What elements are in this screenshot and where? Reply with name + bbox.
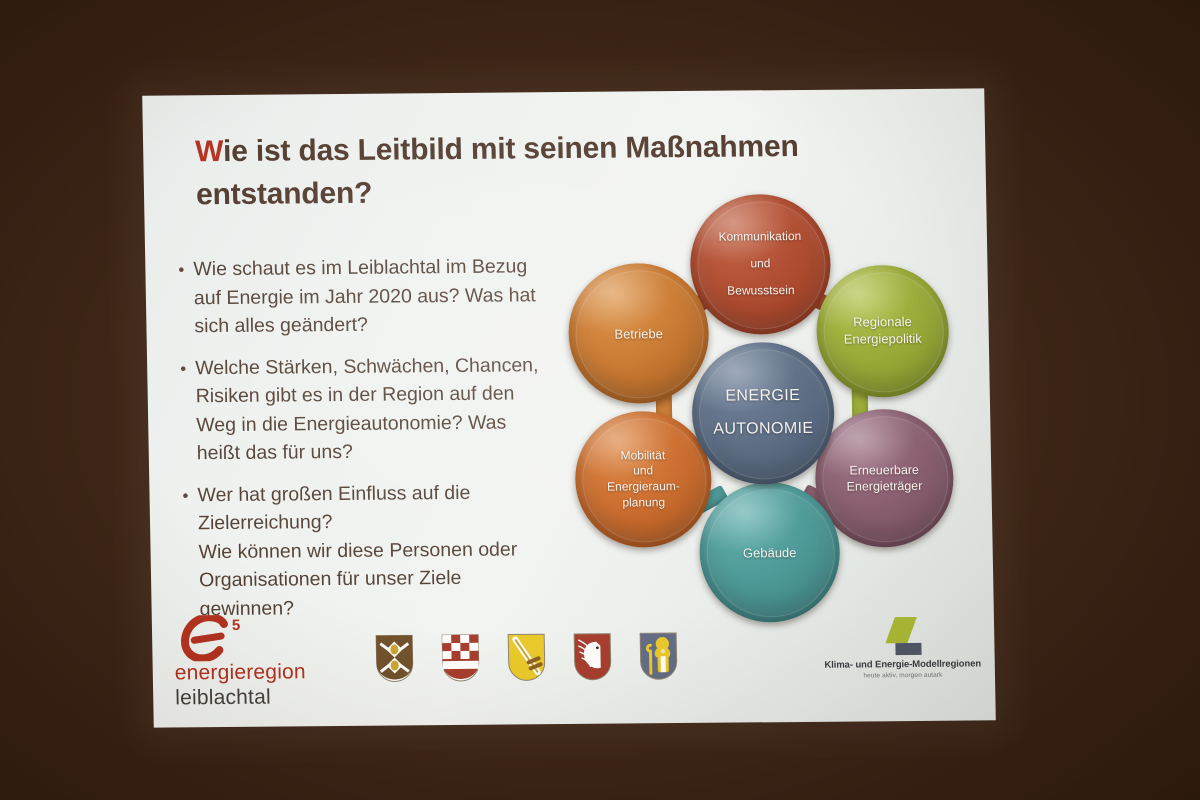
bullet-marker-icon: • [171,354,197,468]
node-betriebe[interactable]: Betriebe [567,263,710,404]
node-energie-autonomie-center[interactable]: ENERGIE AUTONOMIE [691,342,836,485]
kem-mark-icon [812,614,993,660]
list-item: • Wer hat großen Einfluss auf die Zieler… [173,477,596,623]
crest-icon-2 [440,633,481,683]
bullet-marker-icon: • [173,481,200,624]
e5-logo-line2: leiblachtal [175,685,365,711]
kem-shape-icon [867,615,938,660]
projected-slide-wrapper: Wie ist das Leitbild mit seinen Maßnahme… [142,88,996,727]
bullet-text: Welche Stärken, Schwächen, Chancen, Risi… [195,350,593,467]
e5-logo-line1: energieregion [175,660,365,686]
kem-logo-title: Klima- und Energie-Modellregionen [813,658,993,671]
node-erneuerbare-energietraeger[interactable]: Erneuerbare Energieträger [814,409,955,548]
node-kommunikation-und-bewusstsein[interactable]: Kommunikation und Bewusstsein [689,194,832,335]
presentation-slide: Wie ist das Leitbild mit seinen Maßnahme… [142,88,996,727]
municipal-crests [374,631,679,684]
e5-swirl-icon [174,615,265,662]
node-label: Regionale Energiepolitik [843,314,922,348]
kem-logo-subtitle: heute aktiv, morgen autark [813,671,993,680]
list-item: • Wie schaut es im Leiblachtal im Bezug … [169,252,591,341]
projection-scene: Wie ist das Leitbild mit seinen Maßnahme… [0,0,1200,800]
energy-autonomy-diagram: Kommunikation und Bewusstsein Regionale … [548,193,976,637]
title-accent-letter: W [195,135,223,168]
node-label: ENERGIE AUTONOMIE [713,387,814,439]
crest-icon-1 [374,633,415,683]
bullet-list: • Wie schaut es im Leiblachtal im Bezug … [169,252,596,637]
e5-superscript: 5 [232,617,241,634]
e5-energieregion-logo: 5 energieregion leiblachtal [174,614,366,711]
kem-logo: Klima- und Energie-Modellregionen heute … [812,614,993,679]
node-label: Mobilität und Energieraum- planung [606,448,680,511]
crest-icon-4 [572,632,613,682]
crest-icon-5 [638,631,679,681]
node-label: Betriebe [614,326,663,341]
node-label: Gebäude [743,545,797,560]
bullet-text: Wer hat großen Einfluss auf die Zielerre… [197,477,596,623]
node-mobilitaet-und-energieraumplanung[interactable]: Mobilität und Energieraum- planung [574,411,712,548]
node-label: Erneuerbare Energieträger [846,462,922,495]
list-item: • Welche Stärken, Schwächen, Chancen, Ri… [171,350,593,468]
node-gebaeude[interactable]: Gebäude [698,482,841,623]
e5-mark-icon: 5 [174,615,265,662]
bullet-text: Wie schaut es im Leiblachtal im Bezug au… [193,252,591,341]
node-label: Kommunikation und Bewusstsein [718,230,802,298]
crest-icon-3 [506,632,547,682]
bullet-marker-icon: • [169,255,195,341]
node-regionale-energiepolitik[interactable]: Regionale Energiepolitik [815,265,949,398]
